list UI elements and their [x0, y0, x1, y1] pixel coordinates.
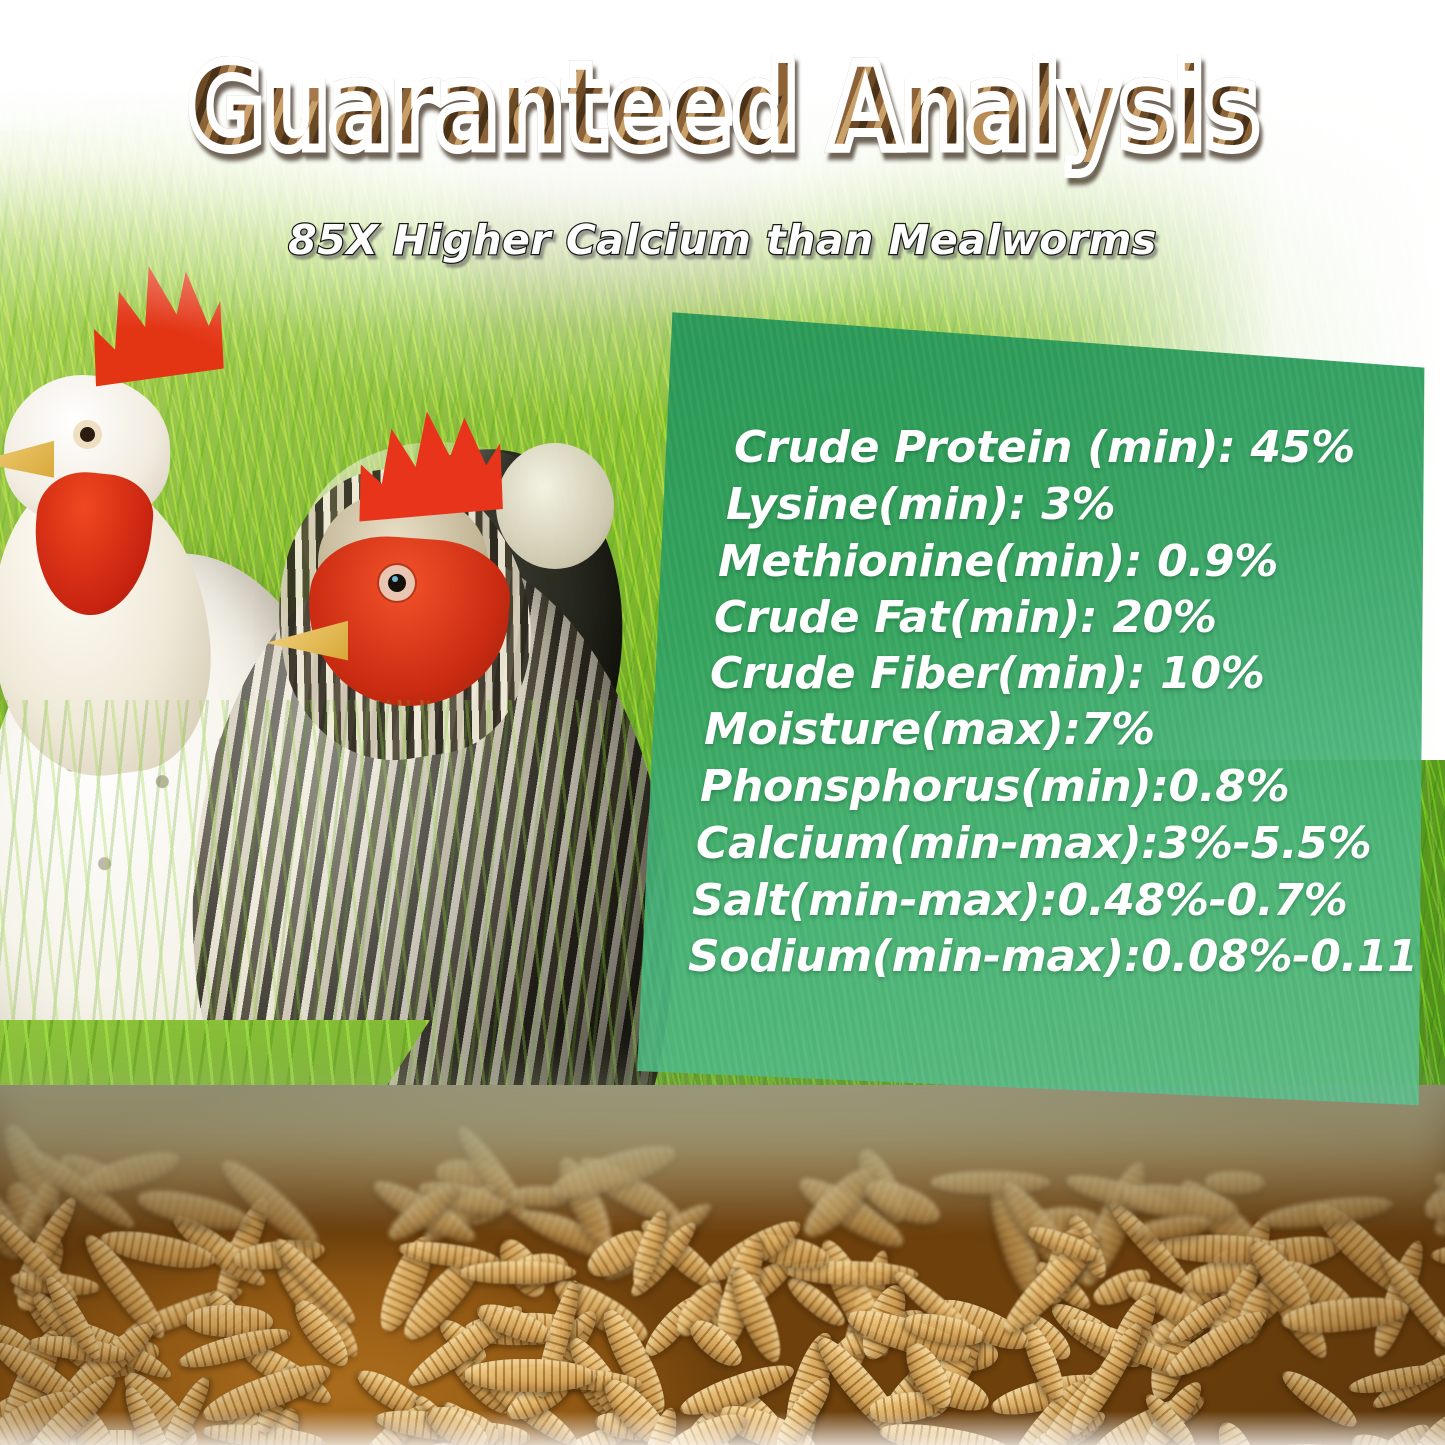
analysis-row-list: Crude Protein (min): 45%Lysine(min): 3%M… — [630, 300, 1430, 1115]
analysis-row: Methionine(min): 0.9% — [718, 536, 1278, 587]
analysis-row: Crude Fiber(min): 10% — [710, 648, 1265, 699]
bottom-white-fade — [0, 1411, 1445, 1445]
analysis-row: Salt(min-max):0.48%-0.7% — [692, 875, 1348, 926]
product-infographic: Guaranteed Analysis 85X Higher Calcium t… — [0, 0, 1445, 1445]
left-corner-fade — [0, 0, 360, 130]
analysis-row: Phonsphorus(min):0.8% — [700, 761, 1289, 812]
analysis-row: Crude Fat(min): 20% — [714, 592, 1217, 643]
analysis-row: Sodium(min-max):0.08%-0.11% — [688, 931, 1445, 982]
analysis-row: Lysine(min): 3% — [726, 479, 1115, 530]
analysis-row: Calcium(min-max):3%-5.5% — [696, 818, 1371, 869]
analysis-row: Crude Protein (min): 45% — [734, 422, 1355, 473]
guaranteed-analysis-panel: Crude Protein (min): 45%Lysine(min): 3%M… — [630, 300, 1430, 1115]
analysis-row: Moisture(max):7% — [704, 704, 1155, 755]
